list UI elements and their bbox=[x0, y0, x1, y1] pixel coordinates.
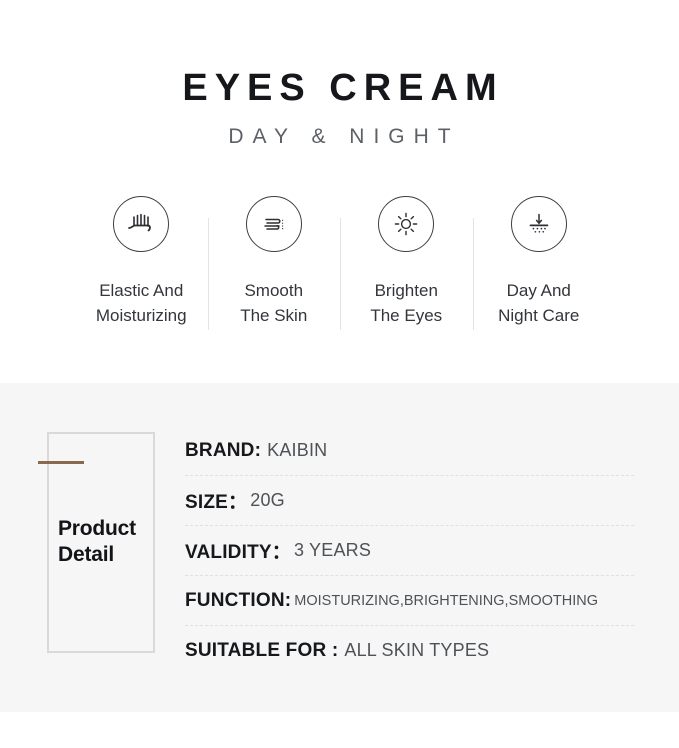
feature-item-care: Day And Night Care bbox=[473, 196, 606, 328]
sun-brighten-icon bbox=[378, 196, 434, 252]
spec-label: SUITABLE FOR : bbox=[185, 640, 338, 662]
spec-label: SIZE： bbox=[185, 487, 247, 514]
absorption-care-icon bbox=[511, 196, 567, 252]
feature-item-smooth: Smooth The Skin bbox=[208, 196, 341, 328]
feature-label: Elastic And Moisturizing bbox=[96, 278, 187, 328]
feature-item-elastic: Elastic And Moisturizing bbox=[75, 196, 208, 328]
spec-row-suitable-for: SUITABLE FOR : ALL SKIN TYPES bbox=[185, 626, 634, 675]
spec-label: VALIDITY： bbox=[185, 537, 291, 564]
spec-row-function: FUNCTION: MOISTURIZING,BRIGHTENING,SMOOT… bbox=[185, 576, 634, 626]
title-block: EYES CREAM DAY & NIGHT bbox=[0, 66, 679, 152]
product-detail-title: Product Detail bbox=[58, 516, 136, 568]
page-subtitle: DAY & NIGHT bbox=[0, 122, 679, 152]
product-detail-page: EYES CREAM DAY & NIGHT Elasti bbox=[0, 0, 679, 748]
spec-label: FUNCTION: bbox=[185, 590, 291, 612]
spec-label: BRAND: bbox=[185, 440, 261, 462]
spec-value: KAIBIN bbox=[267, 440, 327, 461]
product-detail-section: Product Detail BRAND: KAIBIN SIZE： 20G V… bbox=[0, 383, 679, 712]
spec-value: 20G bbox=[250, 490, 285, 511]
smooth-airflow-icon bbox=[246, 196, 302, 252]
spec-value: MOISTURIZING,BRIGHTENING,SMOOTHING bbox=[294, 593, 598, 609]
feature-label: Brighten The Eyes bbox=[370, 278, 442, 328]
page-title: EYES CREAM bbox=[0, 66, 679, 110]
feature-label: Smooth The Skin bbox=[240, 278, 307, 328]
feature-item-brighten: Brighten The Eyes bbox=[340, 196, 473, 328]
feature-list: Elastic And Moisturizing Smooth The Ski bbox=[75, 196, 605, 328]
accent-line bbox=[38, 461, 84, 464]
spec-value: 3 YEARS bbox=[294, 540, 371, 561]
spec-row-validity: VALIDITY： 3 YEARS bbox=[185, 526, 634, 576]
hero-section: EYES CREAM DAY & NIGHT Elasti bbox=[0, 0, 679, 383]
spec-row-size: SIZE： 20G bbox=[185, 476, 634, 526]
spec-value: ALL SKIN TYPES bbox=[344, 640, 489, 661]
spec-table: BRAND: KAIBIN SIZE： 20G VALIDITY： 3 YEAR… bbox=[185, 426, 634, 675]
product-detail-card: Product Detail bbox=[47, 432, 155, 653]
skin-elasticity-icon bbox=[113, 196, 169, 252]
feature-label: Day And Night Care bbox=[498, 278, 579, 328]
spec-row-brand: BRAND: KAIBIN bbox=[185, 426, 634, 476]
footer-whitespace bbox=[0, 712, 679, 748]
